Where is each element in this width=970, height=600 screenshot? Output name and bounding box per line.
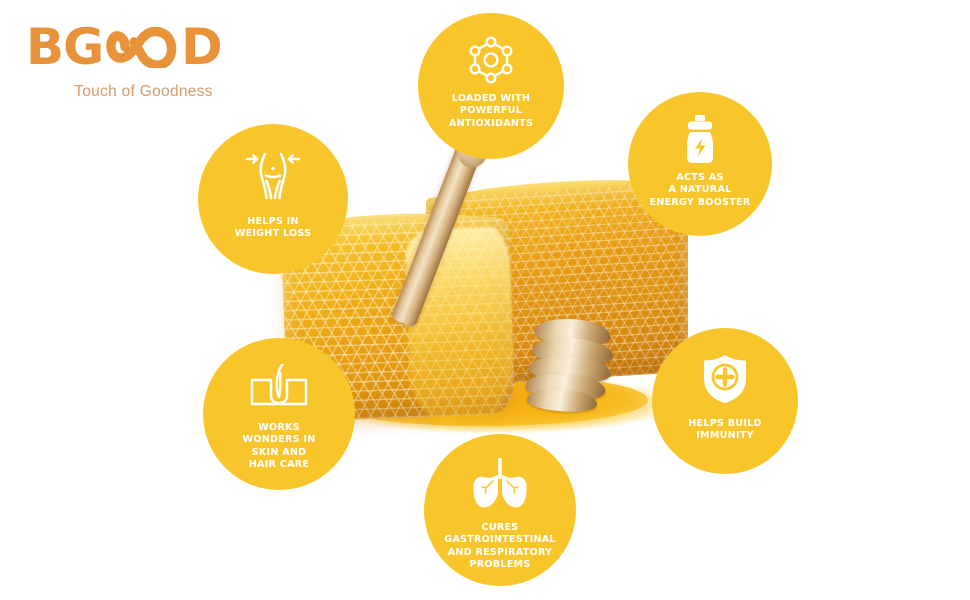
infographic-canvas: BG D Touch of Goodness [0,0,970,600]
badge-label: LOADED WITH POWERFUL ANTIOXIDANTS [421,93,561,130]
molecule-icon [466,35,516,85]
logo-tagline: Touch of Goodness [26,83,261,101]
badge-label: WORKS WONDERS IN SKIN AND HAIR CARE [209,422,349,472]
logo-text-left: BG [26,22,103,72]
energy-bottle-icon [675,114,725,164]
badge-label: ACTS AS A NATURAL ENERGY BOOSTER [630,172,770,209]
lungs-icon [471,458,529,510]
badge-weight-loss[interactable]: HELPS IN WEIGHT LOSS [198,124,348,274]
slim-waist-icon [244,150,302,202]
badge-skin-hair-care[interactable]: WORKS WONDERS IN SKIN AND HAIR CARE [203,338,355,490]
badge-label: HELPS IN WEIGHT LOSS [203,216,343,241]
badge-label: CURES GASTROINTESTINAL AND RESPIRATORY P… [430,522,570,572]
badge-gastro-respiratory[interactable]: CURES GASTROINTESTINAL AND RESPIRATORY P… [424,434,576,586]
hair-follicle-icon [249,364,309,410]
logo-wordmark: BG D [26,22,286,72]
shield-plus-icon [700,354,750,404]
logo-text-right: D [181,22,222,72]
brand-logo: BG D Touch of Goodness [26,22,286,101]
badge-immunity[interactable]: HELPS BUILD IMMUNITY [652,328,798,474]
infinity-icon [104,26,180,68]
badge-label: HELPS BUILD IMMUNITY [655,418,795,443]
badge-antioxidants[interactable]: LOADED WITH POWERFUL ANTIOXIDANTS [418,13,564,159]
badge-energy-booster[interactable]: ACTS AS A NATURAL ENERGY BOOSTER [628,92,772,236]
